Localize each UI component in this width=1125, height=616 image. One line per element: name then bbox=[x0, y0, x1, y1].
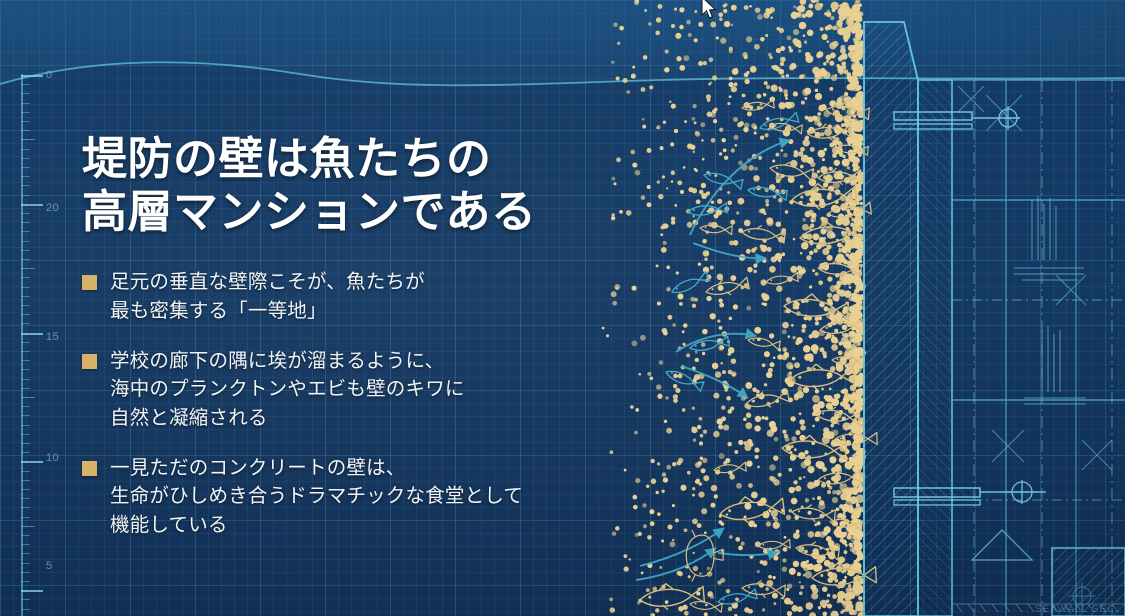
bullet-line: 一見ただのコンクリートの壁は、 bbox=[110, 454, 523, 483]
page-title: 堤防の壁は魚たちの 高層マンションである bbox=[82, 133, 602, 238]
bullet-line: 生命がひしめき合うドラマチックな食堂として bbox=[110, 482, 523, 511]
wall-survey-marks bbox=[958, 86, 1112, 470]
list-item: 学校の廊下の隅に埃が溜まるように、 海中のプランクトンやエビも壁のキワに 自然と… bbox=[82, 347, 602, 433]
wall-centerlines bbox=[952, 80, 1125, 616]
title-line-2: 高層マンションである bbox=[82, 186, 602, 239]
seawall-cross-section bbox=[846, 0, 1125, 616]
list-item: 一見ただのコンクリートの壁は、 生命がひしめき合うドラマチックな食堂として 機能… bbox=[82, 454, 602, 540]
bullet-line: 海中のプランクトンやエビも壁のキワに bbox=[110, 375, 465, 404]
bullet-line: 学校の廊下の隅に埃が溜まるように、 bbox=[110, 347, 465, 376]
list-item: 足元の垂直な壁際こそが、魚たちが 最も密集する「一等地」 bbox=[82, 268, 602, 325]
bullet-list: 足元の垂直な壁際こそが、魚たちが 最も密集する「一等地」 学校の廊下の隅に埃が溜… bbox=[82, 268, 602, 539]
bullet-line: 最も密集する「一等地」 bbox=[110, 297, 425, 326]
corner-stamp: SEAWALL SEC. bbox=[1035, 604, 1119, 615]
gold-square-bullet-icon bbox=[82, 461, 97, 476]
title-line-1: 堤防の壁は魚たちの bbox=[82, 133, 602, 186]
bullet-text: 学校の廊下の隅に埃が溜まるように、 海中のプランクトンやエビも壁のキワに 自然と… bbox=[110, 347, 465, 433]
bullet-text: 足元の垂直な壁際こそが、魚たちが 最も密集する「一等地」 bbox=[110, 268, 425, 325]
bullet-line: 自然と凝縮される bbox=[110, 404, 465, 433]
wall-parapet bbox=[864, 22, 918, 616]
wall-backfill bbox=[952, 80, 1125, 616]
plankton-field bbox=[602, 0, 866, 616]
text-content-block: 堤防の壁は魚たちの 高層マンションである 足元の垂直な壁際こそが、魚たちが 最も… bbox=[82, 133, 602, 561]
bullet-line: 機能している bbox=[110, 511, 523, 540]
gold-square-bullet-icon bbox=[82, 354, 97, 369]
gold-square-bullet-icon bbox=[82, 275, 97, 290]
wall-caisson bbox=[918, 80, 952, 616]
bullet-text: 一見ただのコンクリートの壁は、 生命がひしめき合うドラマチックな食堂として 機能… bbox=[110, 454, 523, 540]
slide-canvas: 0 20 15 10 5 bbox=[0, 0, 1125, 616]
bullet-line: 足元の垂直な壁際こそが、魚たちが bbox=[110, 268, 425, 297]
